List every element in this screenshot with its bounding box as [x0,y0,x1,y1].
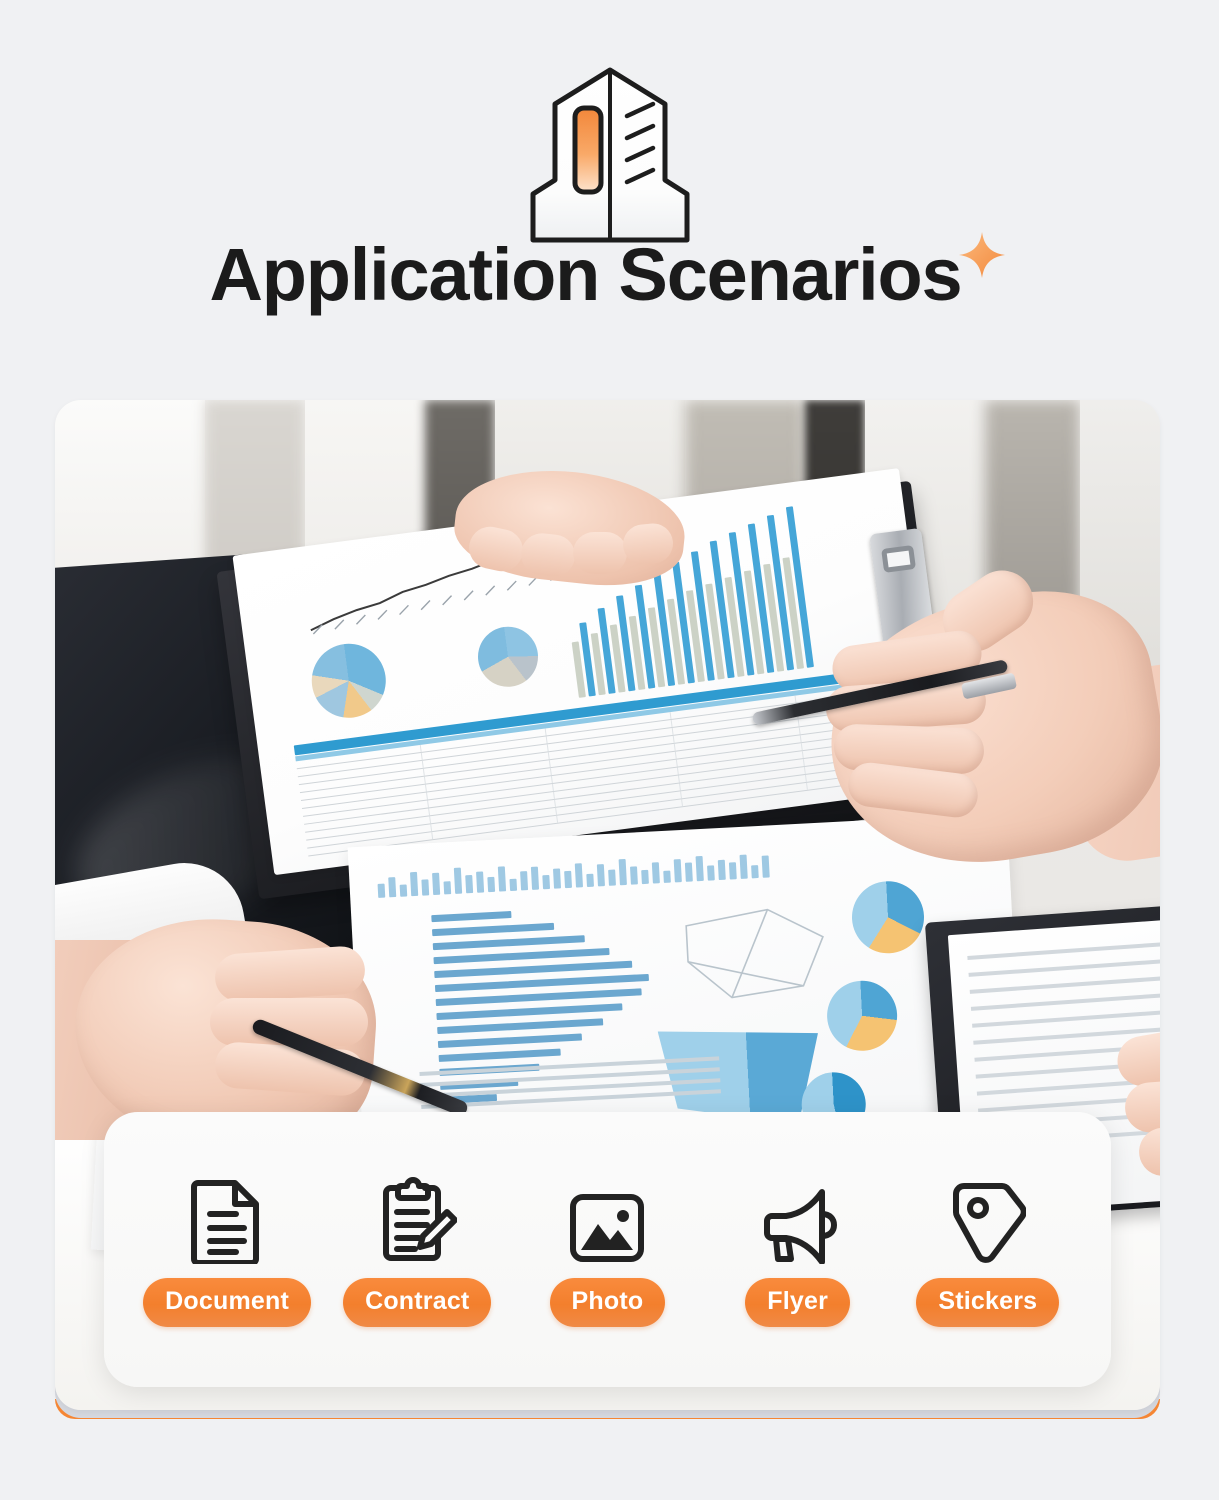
page-title: Application Scenarios [210,236,962,314]
scenario-item-stickers[interactable]: Stickers [900,1172,1075,1327]
scenario-label: Document [143,1278,311,1327]
page-root: Application Scenarios [0,0,1219,1500]
building-logo-icon [505,62,715,247]
sparkle-star-icon [955,228,1009,282]
report-pie-chart-2 [825,979,899,1053]
right-hand-with-pen [790,540,1160,970]
image-picture-icon [568,1172,646,1264]
scenario-item-photo[interactable]: Photo [520,1172,695,1327]
scenario-item-document[interactable]: Document [140,1172,315,1327]
megaphone-icon [756,1172,840,1264]
top-hand-holding-folder [455,462,705,612]
scenario-badge-panel: Document Contract [104,1112,1111,1387]
clipboard-pen-icon [377,1172,457,1264]
page-title-row: Application Scenarios [210,236,1010,314]
scenario-label: Stickers [916,1278,1059,1327]
scenario-label: Flyer [745,1278,850,1327]
header: Application Scenarios [0,0,1219,390]
bottom-right-hand [1105,1000,1160,1260]
pie-chart-1 [307,639,390,722]
document-page-icon [190,1172,264,1264]
scenario-item-flyer[interactable]: Flyer [710,1172,885,1327]
pie-chart-2 [474,623,541,690]
scenario-label: Photo [550,1278,666,1327]
price-tag-icon [950,1172,1026,1264]
scenario-label: Contract [343,1278,491,1327]
scenario-item-contract[interactable]: Contract [330,1172,505,1327]
